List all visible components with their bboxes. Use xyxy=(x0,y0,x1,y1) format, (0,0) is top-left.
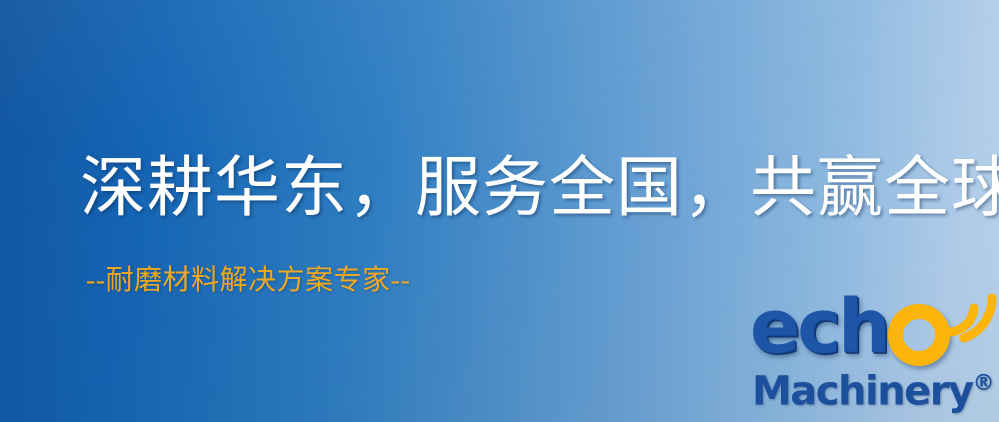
banner-subtitle: --耐磨材料解决方案专家-- xyxy=(86,264,410,298)
logo-wordmark-group: ech xyxy=(748,296,992,370)
promotional-banner: 深耕华东，服务全国，共赢全球 --耐磨材料解决方案专家-- ech Machin… xyxy=(0,0,999,422)
logo-wordmark-ech: ech xyxy=(750,290,888,364)
logo-tagline-text: Machinery xyxy=(752,368,973,414)
registered-trademark-icon: ® xyxy=(973,371,995,396)
signal-waves-icon xyxy=(940,288,999,350)
echo-machinery-logo: ech Machinery® xyxy=(748,296,992,418)
banner-headline: 深耕华东，服务全国，共赢全球 xyxy=(80,151,950,227)
logo-tagline: Machinery® xyxy=(752,362,995,413)
